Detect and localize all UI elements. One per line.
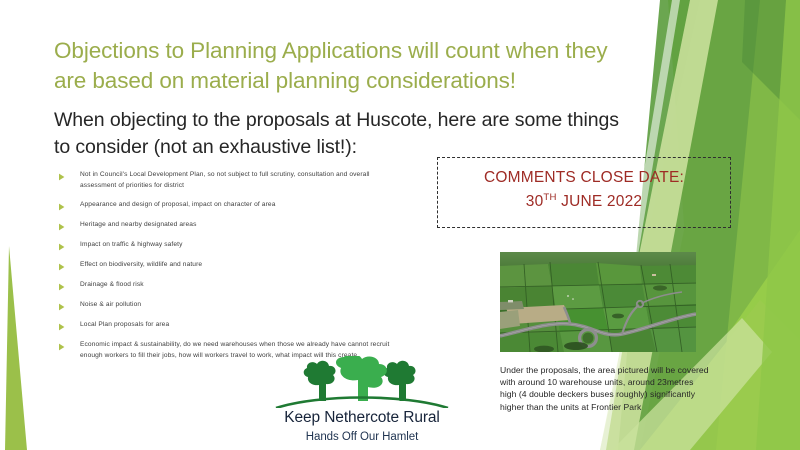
logo-title: Keep Nethercote Rural [262, 409, 462, 427]
triangle-right-bullet-icon [58, 243, 66, 251]
triangle-right-bullet-icon [58, 203, 66, 211]
triangle-right-bullet-icon [58, 283, 66, 291]
page-subtitle: When objecting to the proposals at Husco… [54, 107, 639, 160]
deco-shape-upper-dark-wedge [742, 0, 800, 120]
triangle-right-bullet-icon [58, 263, 66, 271]
comments-close-date-line1: COMMENTS CLOSE DATE: [438, 166, 730, 190]
three-trees-on-hill-icon [262, 356, 462, 408]
considerations-list: Not in Council's Local Development Plan,… [58, 170, 393, 371]
list-item: Not in Council's Local Development Plan,… [58, 170, 393, 191]
list-item: Appearance and design of proposal, impac… [58, 200, 393, 211]
list-item: Impact on traffic & highway safety [58, 240, 393, 251]
comments-close-date-text: COMMENTS CLOSE DATE: 30TH JUNE 2022 [438, 166, 730, 214]
triangle-right-bullet-icon [58, 323, 66, 331]
list-item-label: Local Plan proposals for area [80, 320, 393, 331]
triangle-right-bullet-icon [58, 343, 66, 351]
close-date-month-year: JUNE 2022 [561, 193, 642, 210]
list-item-label: Appearance and design of proposal, impac… [80, 200, 393, 211]
deco-shape-bottom-left-wedge [5, 246, 27, 450]
list-item: Noise & air pollution [58, 300, 393, 311]
list-item: Heritage and nearby designated areas [58, 220, 393, 231]
list-item-label: Impact on traffic & highway safety [80, 240, 393, 251]
photo-caption: Under the proposals, the area pictured w… [500, 364, 712, 413]
comments-close-date-line2: 30TH JUNE 2022 [438, 190, 730, 214]
list-item: Local Plan proposals for area [58, 320, 393, 331]
close-date-day-suffix: TH [543, 192, 556, 203]
page-title: Objections to Planning Applications will… [54, 36, 634, 95]
list-item-label: Effect on biodiversity, wildlife and nat… [80, 260, 393, 271]
triangle-right-bullet-icon [58, 173, 66, 181]
list-item-label: Not in Council's Local Development Plan,… [80, 170, 393, 191]
list-item: Drainage & flood risk [58, 280, 393, 291]
deco-shape-right-edge-accent [756, 0, 800, 450]
list-item: Effect on biodiversity, wildlife and nat… [58, 260, 393, 271]
close-date-day: 30 [526, 193, 544, 210]
campaign-logo: Keep Nethercote Rural Hands Off Our Haml… [262, 356, 462, 443]
list-item-label: Drainage & flood risk [80, 280, 393, 291]
triangle-right-bullet-icon [58, 303, 66, 311]
triangle-right-bullet-icon [58, 223, 66, 231]
list-item-label: Heritage and nearby designated areas [80, 220, 393, 231]
list-item-label: Noise & air pollution [80, 300, 393, 311]
logo-tagline: Hands Off Our Hamlet [262, 431, 462, 443]
comments-close-date-box: COMMENTS CLOSE DATE: 30TH JUNE 2022 [437, 157, 731, 228]
aerial-photo-of-green-fields-and-roundabout [500, 252, 696, 352]
slide-canvas: Objections to Planning Applications will… [0, 0, 800, 450]
